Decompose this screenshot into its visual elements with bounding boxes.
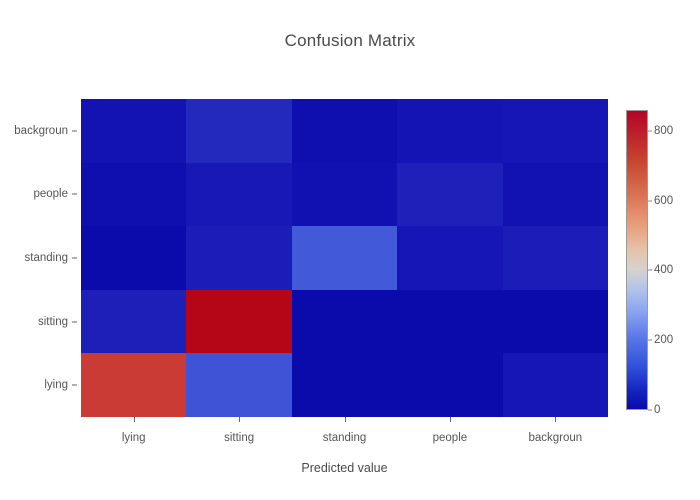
heatmap-cell[interactable] <box>397 290 502 354</box>
x-tick-mark <box>555 417 556 422</box>
colorbar-tick-label-0: 0 <box>654 404 660 416</box>
heatmap-cell[interactable] <box>292 99 397 163</box>
x-tick-mark <box>134 417 135 422</box>
y-tick-mark <box>72 385 77 386</box>
heatmap-cell[interactable] <box>81 163 186 227</box>
heatmap-cell[interactable] <box>292 290 397 354</box>
y-axis: Real value backgrounpeoplestandingsittin… <box>0 99 81 417</box>
colorbar-tick-mark <box>648 270 652 271</box>
colorbar-tick-mark <box>648 410 652 411</box>
heatmap-cell[interactable] <box>186 290 291 354</box>
y-tick-mark <box>72 194 77 195</box>
colorbar-tick-label-800: 800 <box>654 125 673 137</box>
y-tick-label-standing: standing <box>25 252 68 264</box>
heatmap-cell[interactable] <box>186 99 291 163</box>
heatmap-cell[interactable] <box>292 163 397 227</box>
x-tick-label-sitting: sitting <box>224 432 254 444</box>
heatmap-cell[interactable] <box>503 290 608 354</box>
heatmap-cell[interactable] <box>81 99 186 163</box>
y-tick-label-sitting: sitting <box>38 316 68 328</box>
heatmap-cell[interactable] <box>503 163 608 227</box>
y-tick-label-lying: lying <box>44 379 68 391</box>
heatmap-cell[interactable] <box>503 99 608 163</box>
colorbar-tick-mark <box>648 200 652 201</box>
chart-figure: Confusion Matrix Real value backgrounpeo… <box>0 0 700 500</box>
heatmap-cell[interactable] <box>292 353 397 417</box>
y-tick-mark <box>72 321 77 322</box>
colorbar-tick-mark <box>648 340 652 341</box>
heatmap-cell[interactable] <box>186 163 291 227</box>
heatmap-cell[interactable] <box>81 290 186 354</box>
colorbar-gradient <box>626 110 648 410</box>
y-tick-mark <box>72 258 77 259</box>
y-tick-mark <box>72 130 77 131</box>
x-axis-title: Predicted value <box>81 461 608 475</box>
heatmap-cell[interactable] <box>397 226 502 290</box>
x-tick-label-backgroun: backgroun <box>528 432 582 444</box>
heatmap-cell[interactable] <box>81 226 186 290</box>
x-tick-label-people: people <box>433 432 468 444</box>
heatmap-cell[interactable] <box>186 226 291 290</box>
x-tick-label-standing: standing <box>323 432 366 444</box>
colorbar[interactable]: 0200400600800 <box>626 110 696 410</box>
x-tick-label-lying: lying <box>122 432 146 444</box>
heatmap-cell[interactable] <box>186 353 291 417</box>
chart-title: Confusion Matrix <box>0 31 700 51</box>
heatmap-cell[interactable] <box>81 353 186 417</box>
colorbar-tick-label-600: 600 <box>654 195 673 207</box>
x-tick-mark <box>239 417 240 422</box>
heatmap-plot-area[interactable] <box>81 99 608 417</box>
x-axis: Predicted value lyingsittingstandingpeop… <box>81 417 608 487</box>
y-tick-label-backgroun: backgroun <box>14 125 68 137</box>
x-tick-mark <box>450 417 451 422</box>
heatmap-cell[interactable] <box>397 163 502 227</box>
heatmap-cell[interactable] <box>503 353 608 417</box>
y-tick-label-people: people <box>33 188 68 200</box>
colorbar-tick-mark <box>648 130 652 131</box>
heatmap-cell[interactable] <box>397 353 502 417</box>
heatmap-cell[interactable] <box>292 226 397 290</box>
colorbar-tick-label-200: 200 <box>654 334 673 346</box>
heatmap-cell[interactable] <box>397 99 502 163</box>
heatmap-cell[interactable] <box>503 226 608 290</box>
colorbar-tick-label-400: 400 <box>654 264 673 276</box>
x-tick-mark <box>345 417 346 422</box>
